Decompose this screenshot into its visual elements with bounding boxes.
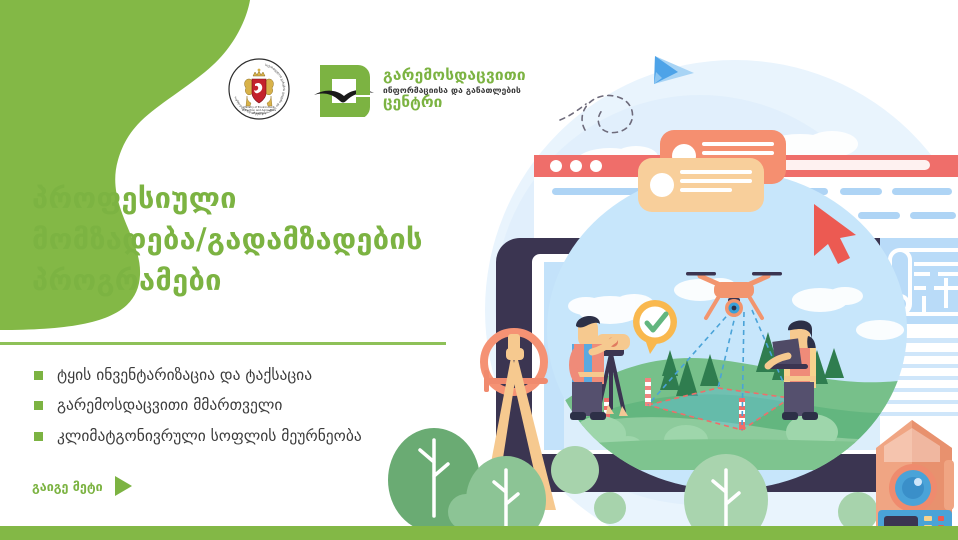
- page-title: პროფესიული მომზადება/გადამზადების პროგრა…: [32, 178, 462, 302]
- bullet-square-icon: [34, 432, 43, 441]
- learn-more-button[interactable]: გაიგე მეტი: [32, 476, 132, 496]
- bullet-square-icon: [34, 401, 43, 410]
- page-title-line-1: პროფესიული: [32, 178, 462, 219]
- program-list: ტყის ინვენტარიზაცია და ტაქსაცია გარემოსდ…: [34, 360, 474, 452]
- list-item[interactable]: კლიმატგონივრული სოფლის მეურნეობა: [34, 421, 474, 452]
- play-triangle-icon[interactable]: [115, 476, 132, 496]
- eiec-book-icon: [314, 61, 374, 117]
- eiec-logo: გარემოსდაცვითი ინფორმაციისა და განათლები…: [314, 61, 526, 117]
- list-item-label: გარემოსდაცვითი მმართველი: [57, 398, 282, 414]
- page-title-line-3: პროგრამები: [32, 260, 462, 301]
- list-item[interactable]: გარემოსდაცვითი მმართველი: [34, 391, 474, 422]
- list-item-label: კლიმატგონივრული სოფლის მეურნეობა: [57, 429, 362, 445]
- georgian-state-emblem-icon: საქართველოს გარემოს დაცვისა და სოფლის მე…: [228, 58, 290, 120]
- svg-text:of Georgia: of Georgia: [252, 111, 266, 115]
- list-item[interactable]: ტყის ინვენტარიზაცია და ტაქსაცია: [34, 360, 474, 391]
- eiec-logo-line1: გარემოსდაცვითი: [383, 68, 526, 84]
- eiec-logo-text: გარემოსდაცვითი ინფორმაციისა და განათლები…: [383, 68, 526, 111]
- title-divider: [0, 342, 446, 345]
- header-logos: საქართველოს გარემოს დაცვისა და სოფლის მე…: [228, 58, 526, 120]
- learn-more-label: გაიგე მეტი: [32, 479, 103, 494]
- slide-canvas: საქართველოს გარემოს დაცვისა და სოფლის მე…: [0, 0, 958, 540]
- page-title-line-2: მომზადება/გადამზადების: [32, 219, 462, 260]
- list-item-label: ტყის ინვენტარიზაცია და ტაქსაცია: [57, 368, 312, 384]
- eiec-logo-line3: ცენტრი: [383, 95, 526, 111]
- bullet-square-icon: [34, 371, 43, 380]
- notification-card-peach-art: [638, 158, 764, 212]
